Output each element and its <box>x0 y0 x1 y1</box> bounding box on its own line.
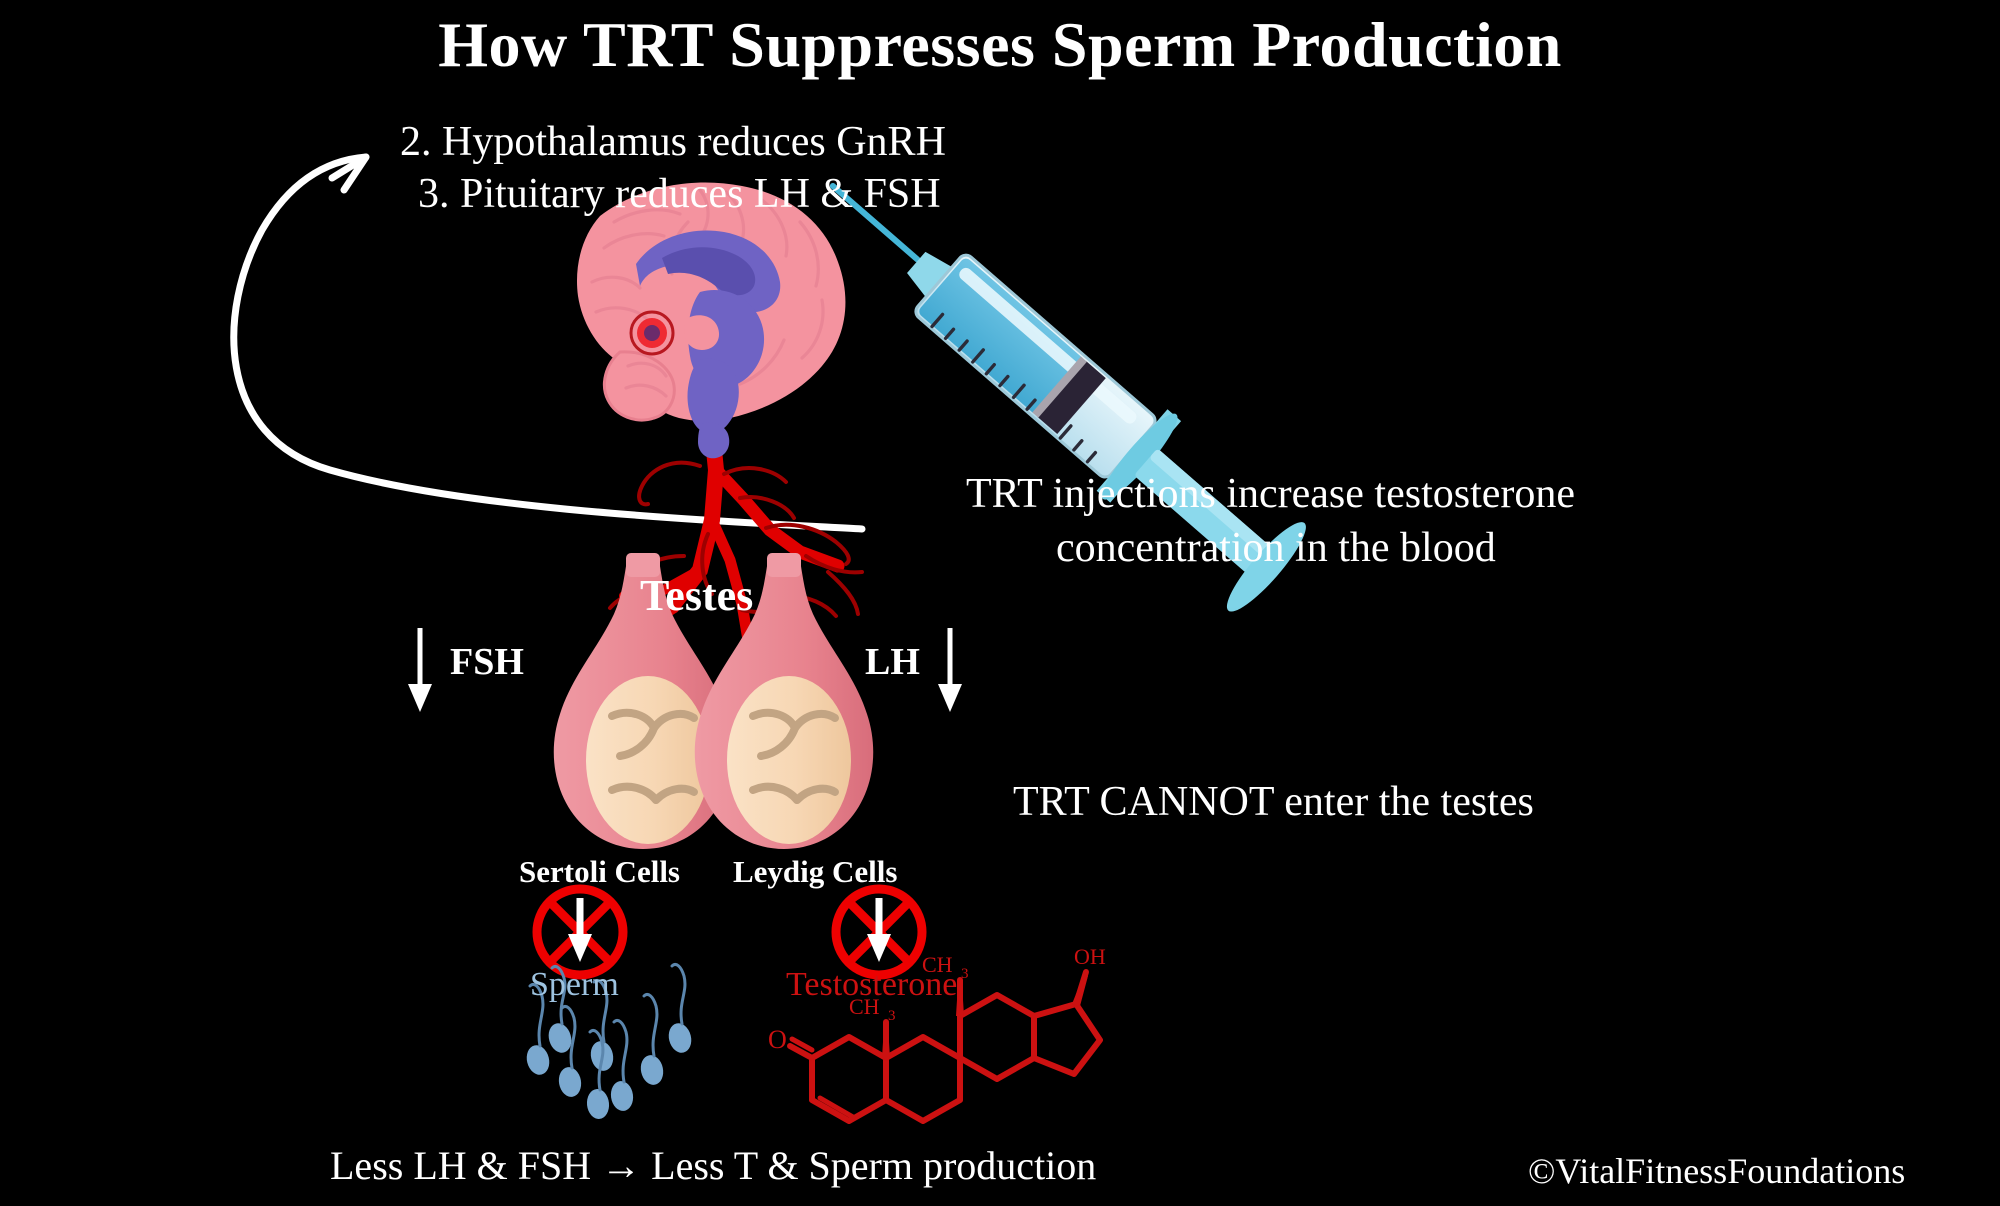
fsh-label: FSH <box>450 640 524 684</box>
methyl-sub-1: 3 <box>888 1008 896 1024</box>
fsh-down-arrow-icon <box>408 628 432 712</box>
step-2-hypothalamus-label: 2. Hypothalamus reduces GnRH <box>400 118 946 166</box>
trt-injection-caption-line1: TRT injections increase testosterone <box>966 470 1575 518</box>
hydroxyl-label: OH <box>1074 944 1106 969</box>
page-title: How TRT Suppresses Sperm Production <box>0 8 2000 82</box>
sperm-prohibition-sign-icon <box>537 889 623 975</box>
illustration-layer: CH 3 CH 3 OH O <box>0 0 2000 1206</box>
sperm-label: Sperm <box>530 966 619 1004</box>
sertoli-cells-label: Sertoli Cells <box>519 854 680 890</box>
testes-label: Testes <box>640 570 753 621</box>
copyright-notice: ©VitalFitnessFoundations <box>1528 1150 1905 1192</box>
lh-label: LH <box>865 640 920 684</box>
lh-down-arrow-icon <box>938 628 962 712</box>
step-3-pituitary-label: 3. Pituitary reduces LH & FSH <box>418 170 941 218</box>
leydig-cells-label: Leydig Cells <box>733 854 897 890</box>
brain-icon <box>577 183 845 459</box>
bottom-summary-text: Less LH & FSH → Less T & Sperm productio… <box>330 1142 1096 1189</box>
trt-cannot-enter-caption: TRT CANNOT enter the testes <box>1013 778 1534 826</box>
ketone-label: O <box>768 1025 787 1054</box>
infographic-canvas: CH 3 CH 3 OH O How TRT Suppresses Sperm … <box>0 0 2000 1206</box>
testosterone-prohibition-sign-icon <box>836 889 922 975</box>
methyl-sub-2: 3 <box>961 966 969 982</box>
trt-injection-caption-line2: concentration in the blood <box>1056 524 1496 572</box>
testosterone-label: Testosterone <box>786 966 957 1004</box>
